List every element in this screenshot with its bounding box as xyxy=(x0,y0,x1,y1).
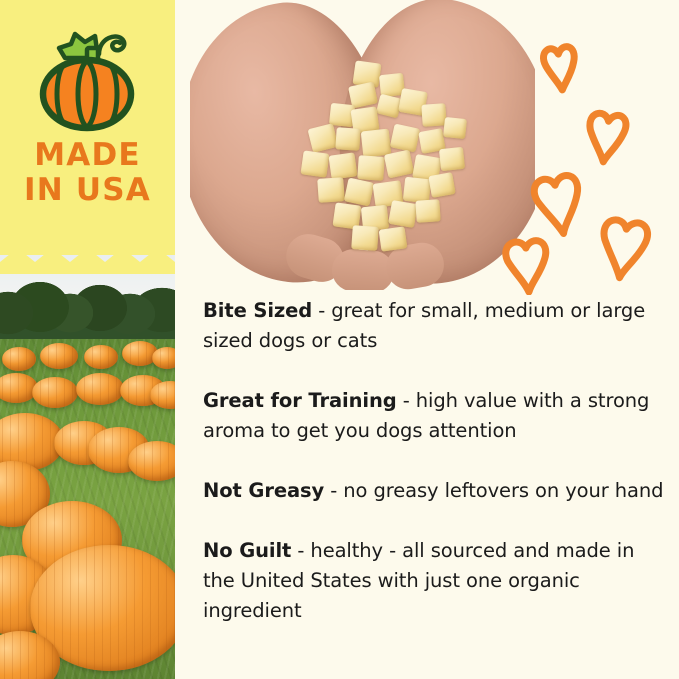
made-in-usa-text: MADE IN USA xyxy=(0,138,175,208)
left-column: MADE IN USA xyxy=(0,0,175,679)
benefits-list: Bite Sized - great for small, medium or … xyxy=(203,296,665,626)
pumpkin xyxy=(2,347,36,371)
product-infographic: MADE IN USA xyxy=(0,0,679,679)
pumpkin xyxy=(40,343,78,369)
benefit-lead: Not Greasy xyxy=(203,479,324,502)
pumpkin xyxy=(32,377,78,408)
treat-cube xyxy=(317,177,345,203)
treat-cube xyxy=(388,200,418,228)
treat-pile xyxy=(292,60,477,255)
benefit-no-guilt: No Guilt - healthy - all sourced and mad… xyxy=(203,536,665,626)
pumpkin-icon xyxy=(31,24,143,132)
pumpkin xyxy=(84,345,118,369)
pumpkin xyxy=(76,373,124,405)
decorative-hearts xyxy=(500,20,679,295)
treat-cube xyxy=(390,124,420,153)
treat-cube xyxy=(379,226,408,251)
heart-icon xyxy=(586,112,627,163)
treat-cube xyxy=(357,155,385,181)
pumpkin-patch-photo xyxy=(0,255,175,679)
treat-cube xyxy=(300,150,329,177)
heart-icon xyxy=(598,218,649,280)
treat-cube xyxy=(384,150,414,179)
treat-cube xyxy=(335,127,360,151)
benefit-bite-sized: Bite Sized - great for small, medium or … xyxy=(203,296,665,356)
treat-cube xyxy=(415,199,440,223)
benefit-lead: Great for Training xyxy=(203,389,397,412)
heart-icon xyxy=(505,240,548,293)
treat-cube xyxy=(328,152,357,179)
hands-holding-treats-photo xyxy=(190,0,535,290)
benefit-lead: Bite Sized xyxy=(203,299,312,322)
treat-cube xyxy=(307,123,338,153)
benefit-great-for-training: Great for Training - high value with a s… xyxy=(203,386,665,446)
treat-cube xyxy=(439,147,465,171)
treat-cube xyxy=(443,117,467,139)
treat-cube xyxy=(344,178,374,207)
badge-line-2: IN USA xyxy=(0,173,175,208)
treat-cube xyxy=(428,172,455,198)
treat-cube xyxy=(421,103,446,127)
treat-cube xyxy=(351,225,379,251)
badge-line-1: MADE xyxy=(0,138,175,173)
benefit-not-greasy: Not Greasy - no greasy leftovers on your… xyxy=(203,476,665,506)
treat-cube xyxy=(361,129,392,158)
benefit-body: - no greasy leftovers on your hand xyxy=(324,479,663,502)
heart-icon xyxy=(532,174,585,237)
heart-icon xyxy=(542,46,578,92)
pumpkin xyxy=(152,347,175,369)
benefit-lead: No Guilt xyxy=(203,539,291,562)
